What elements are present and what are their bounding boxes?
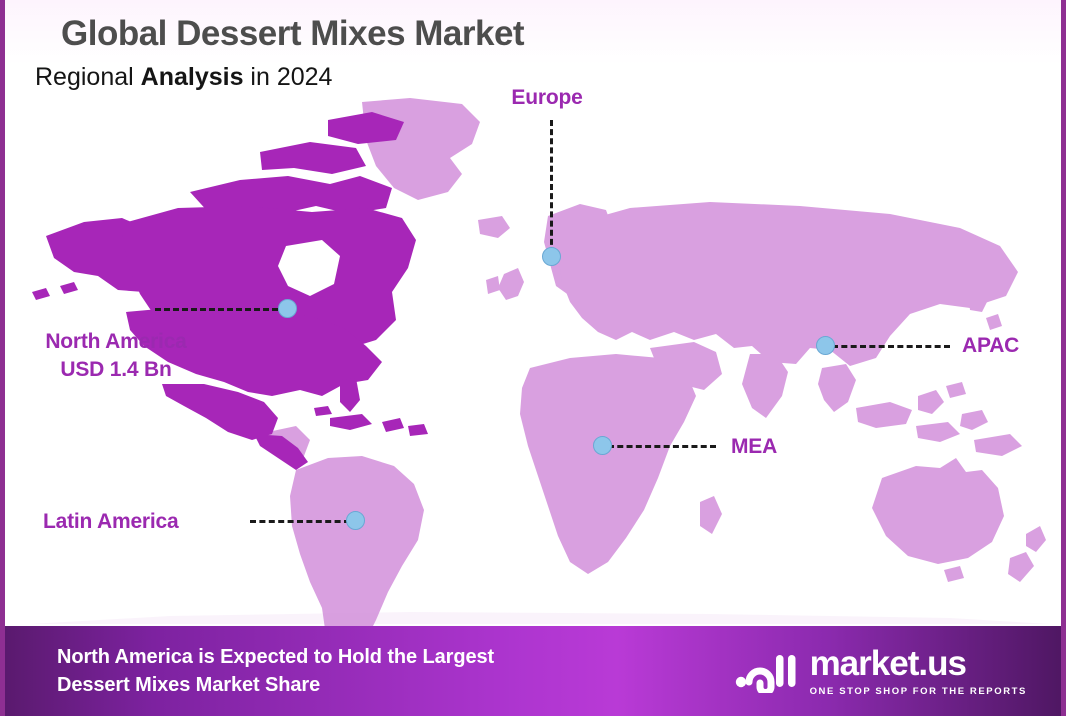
brand-logo[interactable]: market.us ONE STOP SHOP FOR THE REPORTS xyxy=(734,645,1027,698)
infographic-canvas: Global Dessert Mixes Market Regional Ana… xyxy=(0,0,1066,716)
region-label-latin-america[interactable]: Latin America xyxy=(43,508,179,536)
region-label-latin-america-name: Latin America xyxy=(43,508,179,536)
header: Global Dessert Mixes Market Regional Ana… xyxy=(61,14,524,92)
subtitle-pre: Regional xyxy=(35,63,141,91)
leader-line-apac xyxy=(832,345,950,348)
region-label-mea-name: MEA xyxy=(731,433,777,461)
region-label-europe[interactable]: Europe xyxy=(457,84,637,112)
page-subtitle: Regional Analysis in 2024 xyxy=(35,62,524,92)
leader-line-mea xyxy=(608,445,716,448)
footer-headline-line2: Dessert Mixes Market Share xyxy=(57,671,494,699)
market-us-logo-icon xyxy=(734,645,798,698)
region-label-europe-name: Europe xyxy=(457,84,637,112)
canvas-background: Global Dessert Mixes Market Regional Ana… xyxy=(5,0,1061,716)
map-region-north-america[interactable] xyxy=(32,112,428,470)
brand-name: market.us xyxy=(810,646,1027,681)
region-label-apac[interactable]: APAC xyxy=(962,332,1019,360)
subtitle-post: in 2024 xyxy=(243,63,332,91)
footer-bar: North America is Expected to Hold the La… xyxy=(5,626,1061,716)
region-label-apac-name: APAC xyxy=(962,332,1019,360)
map-marker-north-america[interactable] xyxy=(278,299,297,318)
map-marker-mea[interactable] xyxy=(593,436,612,455)
map-marker-latin-america[interactable] xyxy=(346,511,365,530)
region-label-mea[interactable]: MEA xyxy=(731,433,777,461)
footer-headline-line1: North America is Expected to Hold the La… xyxy=(57,643,494,671)
map-marker-europe[interactable] xyxy=(542,247,561,266)
region-label-north-america-value: USD 1.4 Bn xyxy=(21,356,211,384)
leader-line-latin-america xyxy=(250,520,350,523)
region-label-north-america-name: North America xyxy=(21,328,211,356)
map-marker-apac[interactable] xyxy=(816,336,835,355)
brand-wordmark: market.us ONE STOP SHOP FOR THE REPORTS xyxy=(810,646,1027,697)
brand-tagline: ONE STOP SHOP FOR THE REPORTS xyxy=(810,686,1027,697)
leader-line-north-america xyxy=(155,308,278,311)
leader-line-europe xyxy=(550,120,553,254)
page-title: Global Dessert Mixes Market xyxy=(61,14,524,54)
subtitle-emphasis: Analysis xyxy=(141,63,244,91)
region-label-north-america[interactable]: North America USD 1.4 Bn xyxy=(21,328,211,383)
footer-headline: North America is Expected to Hold the La… xyxy=(57,643,494,700)
